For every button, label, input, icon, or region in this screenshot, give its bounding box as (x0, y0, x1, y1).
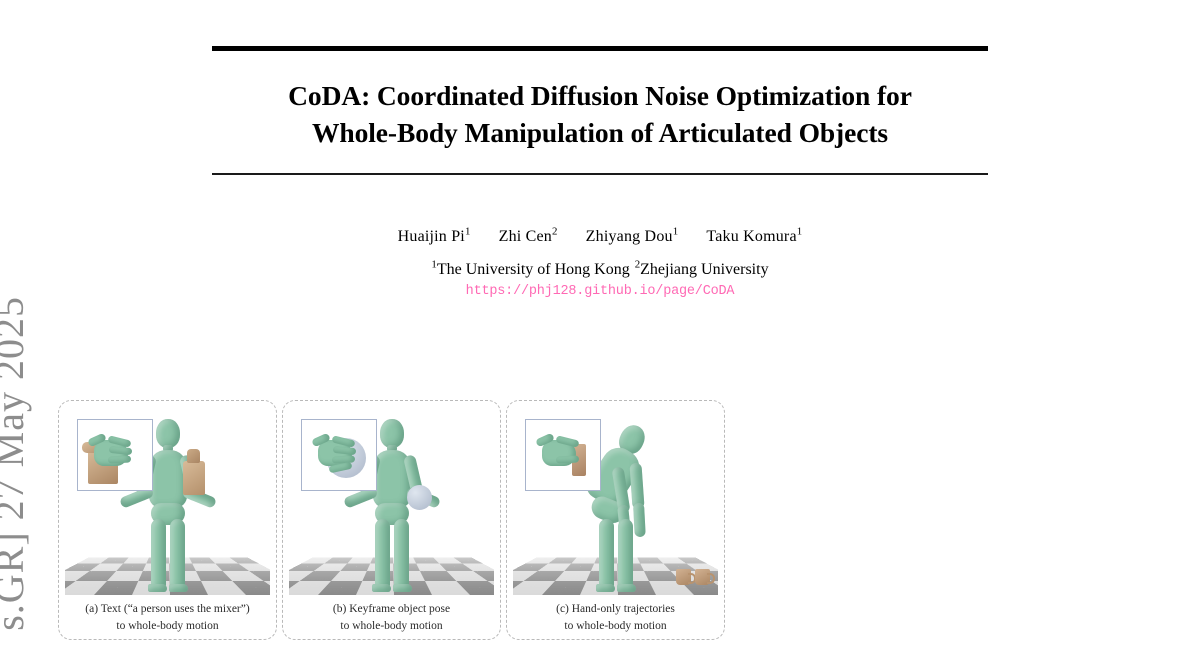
figure-left-leg (375, 519, 390, 591)
mixer-object (183, 461, 205, 495)
inset-hand-grasping-sphere (302, 420, 376, 490)
affiliation-name: Zhejiang University (640, 261, 768, 278)
teaser-panel-a: (a) Text (“a person uses the mixer”) to … (58, 400, 277, 640)
author-entry: Zhiyang Dou1 (586, 228, 679, 246)
teaser-figure: (a) Text (“a person uses the mixer”) to … (58, 400, 728, 640)
panel-a-caption: (a) Text (“a person uses the mixer”) to … (59, 601, 276, 634)
affiliation-entry: 1The University of Hong Kong (431, 261, 629, 278)
figure-left-leg (599, 519, 614, 591)
caption-line-1: (a) Text (“a person uses the mixer”) (62, 601, 273, 617)
author-name: Zhi Cen (499, 228, 552, 245)
author-name: Zhiyang Dou (586, 228, 673, 245)
mug-object (676, 569, 691, 585)
author-entry: Taku Komura1 (706, 228, 802, 246)
figure-left-foot (148, 584, 167, 592)
author-affiliation-marker: 1 (673, 226, 679, 238)
caption-line-1: (c) Hand-only trajectories (510, 601, 721, 617)
page-title: CoDA: Coordinated Diffusion Noise Optimi… (212, 78, 988, 151)
panel-b-caption: (b) Keyframe object pose to whole-body m… (283, 601, 500, 634)
mug-object (695, 569, 710, 585)
figure-right-leg (394, 519, 409, 591)
author-name: Taku Komura (706, 228, 796, 245)
inset-closeup-box (77, 419, 153, 491)
panel-a-scene (65, 407, 270, 597)
figure-right-foot (393, 584, 412, 592)
figure-left-foot (372, 584, 391, 592)
figure-right-leg (618, 519, 633, 591)
teaser-panel-b: (b) Keyframe object pose to whole-body m… (282, 400, 501, 640)
caption-line-1: (b) Keyframe object pose (286, 601, 497, 617)
figure-left-foot (596, 584, 615, 592)
panel-c-caption: (c) Hand-only trajectories to whole-body… (507, 601, 724, 634)
figure-left-leg (151, 519, 166, 591)
inset-hand-grasping-mixer (78, 420, 152, 490)
figure-right-foot (169, 584, 188, 592)
figure-right-foot (617, 584, 636, 592)
project-page-link[interactable]: https://phj128.github.io/page/CoDA (212, 284, 988, 299)
author-name: Huaijin Pi (398, 228, 465, 245)
figure-right-forearm (633, 503, 646, 538)
figure-head (156, 419, 180, 448)
authors-block: Huaijin Pi1Zhi Cen2Zhiyang Dou1Taku Komu… (212, 228, 988, 299)
inset-finger (108, 455, 131, 463)
author-affiliation-marker: 1 (465, 226, 471, 238)
figure-head (380, 419, 404, 448)
author-entry: Zhi Cen2 (499, 228, 558, 246)
affiliation-name: The University of Hong Kong (437, 261, 630, 278)
authors-line: Huaijin Pi1Zhi Cen2Zhiyang Dou1Taku Komu… (212, 228, 988, 246)
caption-line-2: to whole-body motion (510, 618, 721, 634)
arxiv-vertical-stamp: s.GR] 27 May 2025 (0, 296, 33, 631)
affiliation-line: 1The University of Hong Kong2Zhejiang Un… (212, 261, 988, 279)
title-block: CoDA: Coordinated Diffusion Noise Optimi… (212, 51, 988, 173)
caption-line-2: to whole-body motion (62, 618, 273, 634)
title-divider-rule (212, 173, 988, 175)
inset-closeup-box (301, 419, 377, 491)
panel-c-scene (513, 407, 718, 597)
inset-closeup-box (525, 419, 601, 491)
caption-line-2: to whole-body motion (286, 618, 497, 634)
panel-b-scene (289, 407, 494, 597)
inset-finger (556, 455, 579, 463)
teaser-panel-c: (c) Hand-only trajectories to whole-body… (506, 400, 725, 640)
affiliation-entry: 2Zhejiang University (635, 261, 769, 278)
inset-hand-trajectory-wood (526, 420, 600, 490)
author-entry: Huaijin Pi1 (398, 228, 471, 246)
figure-right-leg (170, 519, 185, 591)
sphere-object (407, 485, 432, 510)
author-affiliation-marker: 2 (552, 226, 558, 238)
author-affiliation-marker: 1 (797, 226, 803, 238)
